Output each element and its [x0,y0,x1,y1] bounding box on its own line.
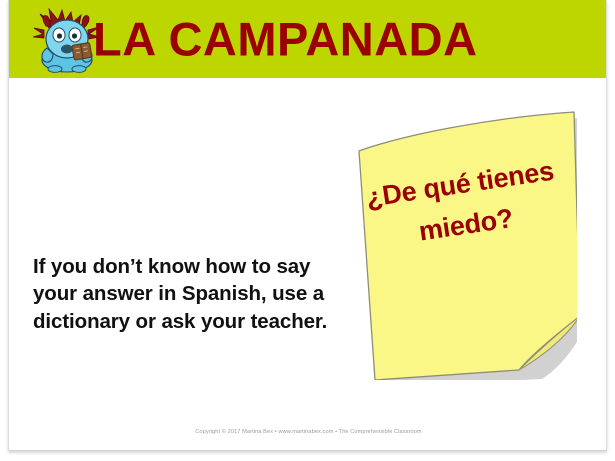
copyright-credit: Copyright © 2017 Martina Bex • www.marti… [9,429,607,435]
header-band: LA CAMPANADA [9,0,607,78]
slide-canvas: LA CAMPANADA If you don’t know how to sa… [8,0,607,451]
page-title: LA CAMPANADA [93,16,478,63]
sticky-note-shape [349,108,577,380]
instruction-text: If you don’t know how to say your answer… [33,253,351,335]
sticky-note: ¿De qué tienes miedo? [349,108,577,380]
